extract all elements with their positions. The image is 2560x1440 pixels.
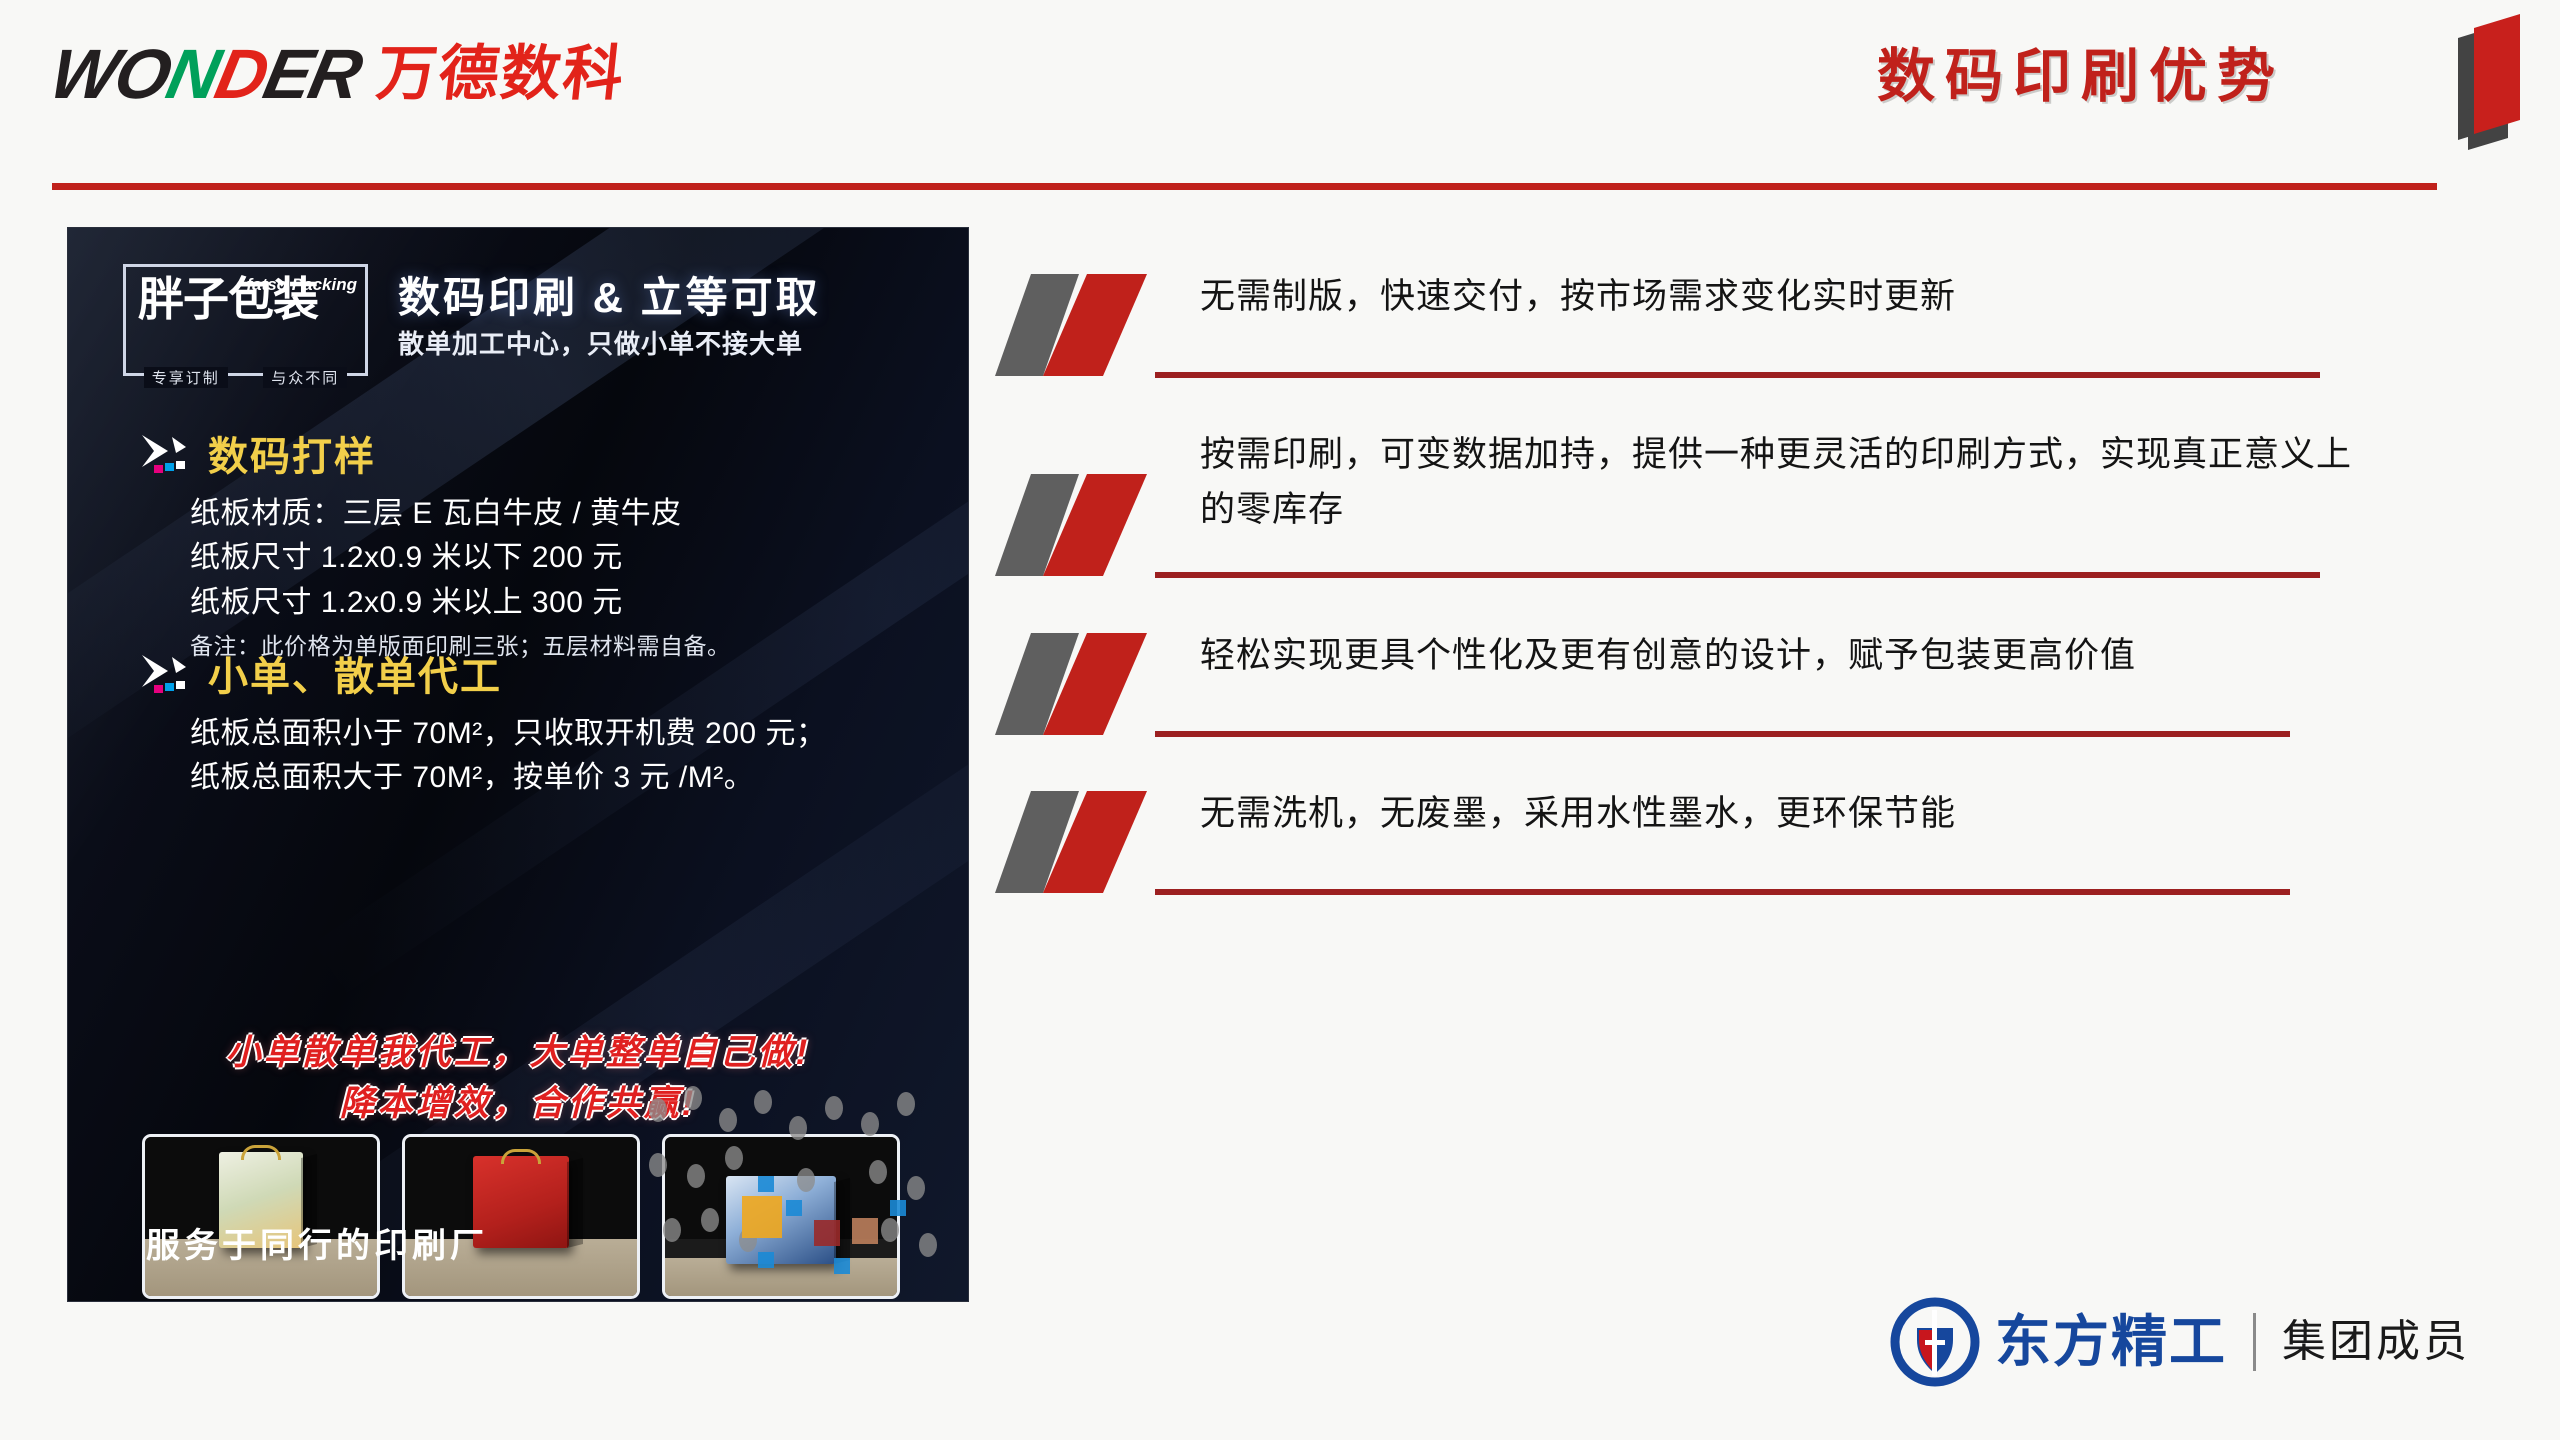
poster-line: 纸板总面积小于 70M²，只收取开机费 200 元； bbox=[190, 712, 826, 756]
poster-footer-text: 服务于同行的印刷厂 bbox=[146, 1218, 488, 1267]
chevron-arrow-icon bbox=[138, 431, 194, 475]
bullet-text: 按需印刷，可变数据加持，提供一种更灵活的印刷方式，实现真正意义上的零库存 bbox=[1200, 428, 2365, 551]
bullet-text: 轻松实现更具个性化及更有创意的设计，赋予包装更高价值 bbox=[1200, 629, 2365, 697]
poster-section-title: 小单、散单代工 bbox=[138, 644, 826, 702]
slide-canvas: WONDER 万德数科 数码印刷优势 胖子包装 fatso Packing 专享… bbox=[0, 0, 2560, 1440]
poster-section-proofing: 数码打样 纸板材质：三层 E 瓦白牛皮 / 黄牛皮 纸板尺寸 1.2x0.9 米… bbox=[138, 424, 731, 663]
wonder-wordmark: WONDER bbox=[45, 39, 367, 109]
header-divider bbox=[52, 183, 2437, 190]
double-slash-marker-icon bbox=[995, 629, 1180, 739]
poster-headline: 数码印刷 & 立等可取 bbox=[398, 264, 821, 325]
dongfang-circle-logo-icon bbox=[1889, 1296, 1981, 1388]
poster-line: 纸板尺寸 1.2x0.9 米以下 200 元 bbox=[190, 536, 731, 580]
fatso-tagline-left: 专享订制 bbox=[144, 367, 228, 388]
poster-line: 纸板尺寸 1.2x0.9 米以上 300 元 bbox=[190, 581, 731, 625]
bullet-creative-design: 轻松实现更具个性化及更有创意的设计，赋予包装更高价值 bbox=[995, 629, 2395, 697]
bullet-print-on-demand: 按需印刷，可变数据加持，提供一种更灵活的印刷方式，实现真正意义上的零库存 bbox=[995, 428, 2395, 551]
red-gift-box bbox=[402, 1134, 640, 1299]
group-member-logo: 东方精工 集团成员 bbox=[1889, 1296, 2470, 1388]
poster-line: 纸板总面积大于 70M²，按单价 3 元 /M²。 bbox=[190, 756, 826, 800]
bullet-no-plate-making: 无需制版，快速交付，按市场需求变化实时更新 bbox=[995, 270, 2395, 338]
bullet-text: 无需制版，快速交付，按市场需求变化实时更新 bbox=[1200, 270, 2365, 338]
chevron-arrow-icon bbox=[138, 651, 194, 695]
wordmark-part-wo: WO bbox=[45, 39, 176, 109]
promo-poster-image: 胖子包装 fatso Packing 专享订制 与众不同 数码印刷 & 立等可取… bbox=[68, 228, 968, 1301]
bullet-underline bbox=[1155, 731, 2290, 737]
honey-gift-box bbox=[142, 1134, 380, 1299]
poster-section-title-text: 数码打样 bbox=[208, 424, 376, 482]
brand-chinese-name: 万德数科 bbox=[374, 44, 628, 104]
poster-section-lines: 纸板总面积小于 70M²，只收取开机费 200 元； 纸板总面积大于 70M²，… bbox=[190, 712, 826, 801]
fatso-tagline-right: 与众不同 bbox=[263, 367, 347, 388]
poster-line: 纸板材质：三层 E 瓦白牛皮 / 黄牛皮 bbox=[190, 492, 731, 536]
parallelogram-corner-icon bbox=[2428, 10, 2538, 160]
poster-section-lines: 纸板材质：三层 E 瓦白牛皮 / 黄牛皮 纸板尺寸 1.2x0.9 米以下 20… bbox=[190, 492, 731, 663]
bullet-underline bbox=[1155, 572, 2320, 578]
poster-section-title-text: 小单、散单代工 bbox=[208, 644, 502, 702]
bullet-underline bbox=[1155, 372, 2320, 378]
poster-slogan-line1: 小单散单我代工，大单整单自己做! bbox=[68, 1028, 968, 1079]
double-slash-marker-icon bbox=[995, 787, 1180, 897]
fatso-logo-taglines: 专享订制 与众不同 bbox=[126, 367, 365, 388]
brand-logo: WONDER 万德数科 bbox=[52, 38, 625, 110]
bullet-eco-friendly: 无需洗机，无废墨，采用水性墨水，更环保节能 bbox=[995, 787, 2395, 855]
wordmark-part-er: ER bbox=[258, 39, 366, 109]
group-company-name: 东方精工 bbox=[1995, 1314, 2227, 1370]
poster-subline: 散单加工中心，只做小单不接大单 bbox=[398, 324, 803, 361]
fatso-packing-logo: 胖子包装 fatso Packing 专享订制 与众不同 bbox=[123, 264, 368, 376]
group-member-label: 集团成员 bbox=[2282, 1320, 2470, 1364]
decorative-dot-pattern bbox=[638, 1080, 968, 1295]
footer-divider bbox=[2253, 1313, 2256, 1371]
poster-section-small-orders: 小单、散单代工 纸板总面积小于 70M²，只收取开机费 200 元； 纸板总面积… bbox=[138, 644, 826, 801]
fatso-logo-en: fatso Packing bbox=[246, 275, 357, 295]
bullet-text: 无需洗机，无废墨，采用水性墨水，更环保节能 bbox=[1200, 787, 2365, 855]
double-slash-marker-icon bbox=[995, 470, 1180, 580]
poster-section-title: 数码打样 bbox=[138, 424, 731, 482]
advantages-list: 无需制版，快速交付，按市场需求变化实时更新 按需印刷，可变数据加持，提供一种更灵… bbox=[995, 270, 2395, 945]
bullet-underline bbox=[1155, 889, 2290, 895]
poster-header-band: 胖子包装 fatso Packing 专享订制 与众不同 数码印刷 & 立等可取… bbox=[68, 242, 968, 392]
double-slash-marker-icon bbox=[995, 270, 1180, 380]
page-title: 数码印刷优势 bbox=[1877, 42, 2285, 112]
